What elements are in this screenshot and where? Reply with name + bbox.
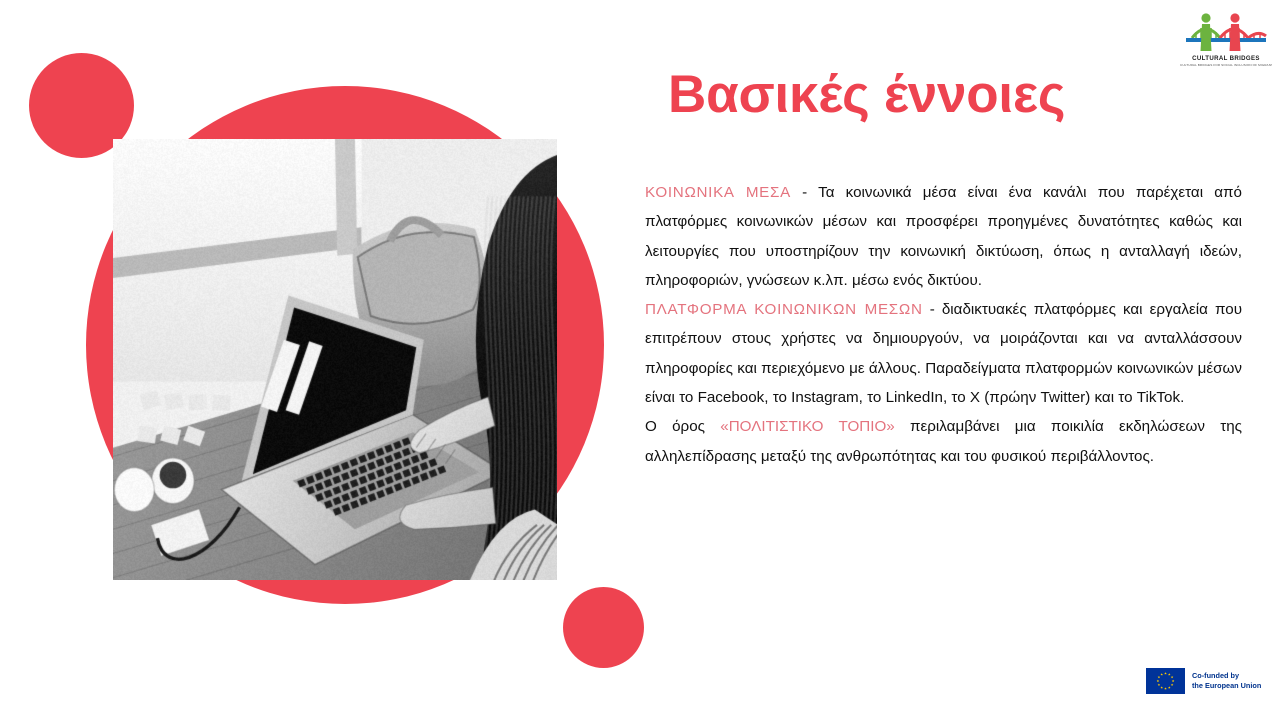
eu-flag-icon: [1146, 668, 1185, 694]
paragraph-social-media: ΚΟΙΝΩΝΙΚΑ ΜΕΣΑ - Τα κοινωνικά μέσα είναι…: [645, 178, 1242, 295]
separator-2: [895, 418, 910, 435]
laptop-photo: [113, 139, 557, 580]
eu-funding-line-1: Co-funded by: [1192, 671, 1261, 681]
slide-canvas: Βασικές έννοιες ΚΟΙΝΩΝΙΚΑ ΜΕΣΑ - Τα κοιν…: [0, 0, 1280, 720]
decorative-circle-small-bottom: [563, 587, 644, 668]
paragraph-cultural-landscape: Ο όρος «ΠΟΛΙΤΙΣΤΙΚΟ ΤΟΠΙΟ» περιλαμβάνει …: [645, 412, 1242, 471]
brand-name: CULTURAL BRIDGES: [1180, 55, 1272, 62]
eu-funding-line-2: the European Union: [1192, 681, 1261, 691]
laptop-photo-canvas: [113, 139, 557, 580]
body-text-block: ΚΟΙΝΩΝΙΚΑ ΜΕΣΑ - Τα κοινωνικά μέσα είναι…: [645, 178, 1242, 471]
prefix-cultural-landscape: Ο όρος: [645, 418, 720, 435]
brand-tagline: CULTURAL BRIDGES FOR SOCIAL INCLUSION OF…: [1180, 63, 1272, 67]
separator-1: -: [923, 301, 942, 318]
eu-funding-text: Co-funded by the European Union: [1192, 671, 1261, 690]
term-cultural-landscape: «ΠΟΛΙΤΙΣΤΙΚΟ ΤΟΠΙΟ»: [720, 418, 894, 435]
paragraph-social-media-platform: ΠΛΑΤΦΟΡΜΑ ΚΟΙΝΩΝΙΚΩΝ ΜΕΣΩΝ - διαδικτυακέ…: [645, 295, 1242, 412]
page-title: Βασικές έννοιες: [668, 66, 1248, 124]
term-social-media: ΚΟΙΝΩΝΙΚΑ ΜΕΣΑ: [645, 184, 791, 201]
term-social-media-platform: ΠΛΑΤΦΟΡΜΑ ΚΟΙΝΩΝΙΚΩΝ ΜΕΣΩΝ: [645, 301, 923, 318]
separator-0: -: [791, 184, 818, 201]
eu-funding-badge: Co-funded by the European Union: [1146, 668, 1261, 694]
